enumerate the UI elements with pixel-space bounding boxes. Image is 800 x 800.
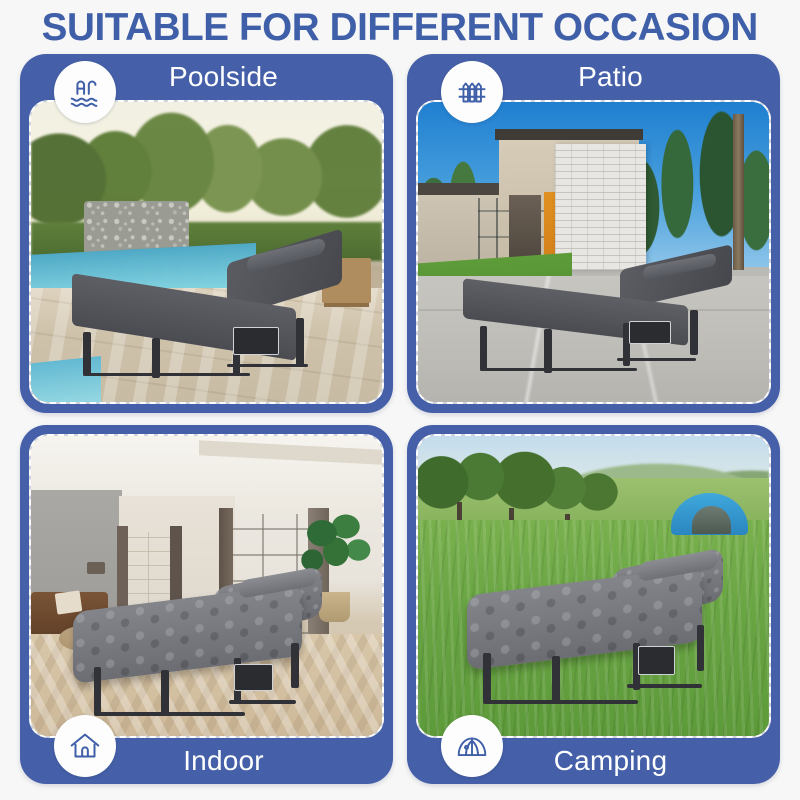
occasion-card-indoor[interactable]: Indoor bbox=[20, 425, 393, 784]
pool-ladder-icon bbox=[54, 61, 116, 123]
background-tent bbox=[671, 493, 748, 535]
scene-poolside bbox=[31, 102, 382, 402]
product-padded-cot bbox=[73, 574, 333, 724]
page-title: SUITABLE FOR DIFFERENT OCCASION bbox=[42, 6, 758, 50]
product-padded-cot bbox=[467, 556, 734, 712]
tent-icon bbox=[441, 715, 503, 777]
product-lounge-chair bbox=[66, 243, 354, 387]
scene-indoor bbox=[31, 436, 382, 736]
product-folding-cot bbox=[460, 252, 741, 384]
scene-camping bbox=[418, 436, 769, 736]
card-photo-indoor bbox=[29, 434, 384, 738]
page-header: SUITABLE FOR DIFFERENT OCCASION bbox=[0, 0, 800, 52]
occasion-card-poolside[interactable]: Poolside bbox=[20, 54, 393, 413]
house-icon bbox=[54, 715, 116, 777]
scene-patio bbox=[418, 102, 769, 402]
occasion-grid: Poolside bbox=[20, 54, 780, 784]
fence-icon bbox=[441, 61, 503, 123]
occasion-card-camping[interactable]: Camping bbox=[407, 425, 780, 784]
card-photo-poolside bbox=[29, 100, 384, 404]
card-photo-camping bbox=[416, 434, 771, 738]
card-photo-patio bbox=[416, 100, 771, 404]
occasion-card-patio[interactable]: Patio bbox=[407, 54, 780, 413]
